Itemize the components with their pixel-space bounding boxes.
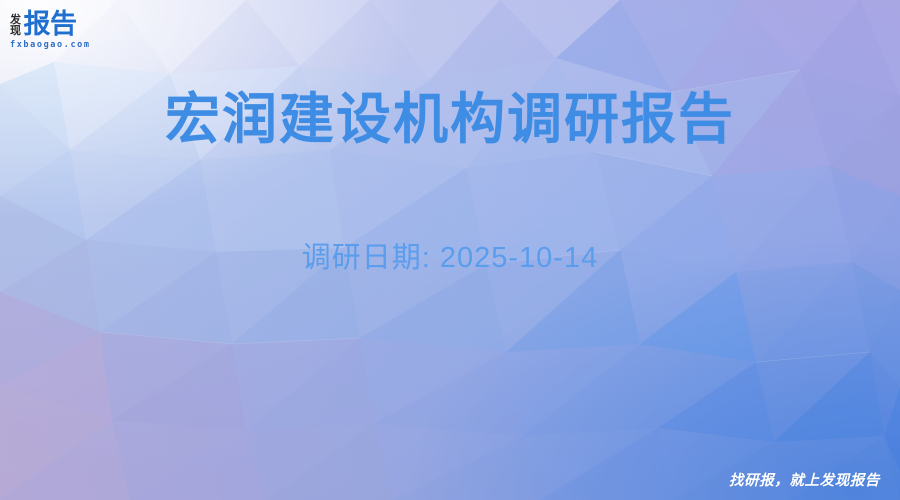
brand-logo-wordmark: 报告: [24, 12, 77, 38]
page-title: 宏润建设机构调研报告: [0, 88, 900, 151]
footer-slogan: 找研报，就上发现报告: [729, 469, 880, 490]
brand-logo-wordmark-row: 发 现 报告: [10, 8, 106, 38]
brand-logo-char-bottom: 现: [10, 26, 21, 37]
brand-logo-url: fxbaogao.com: [10, 40, 106, 50]
survey-date-subtitle: 调研日期: 2025-10-14: [0, 234, 900, 276]
report-cover-slide: 发 现 报告 fxbaogao.com 宏润建设机构调研报告 调研日期: 202…: [0, 0, 900, 500]
brand-logo[interactable]: 发 现 报告 fxbaogao.com: [10, 8, 106, 54]
brand-logo-stacked-chars: 发 现: [10, 15, 21, 38]
